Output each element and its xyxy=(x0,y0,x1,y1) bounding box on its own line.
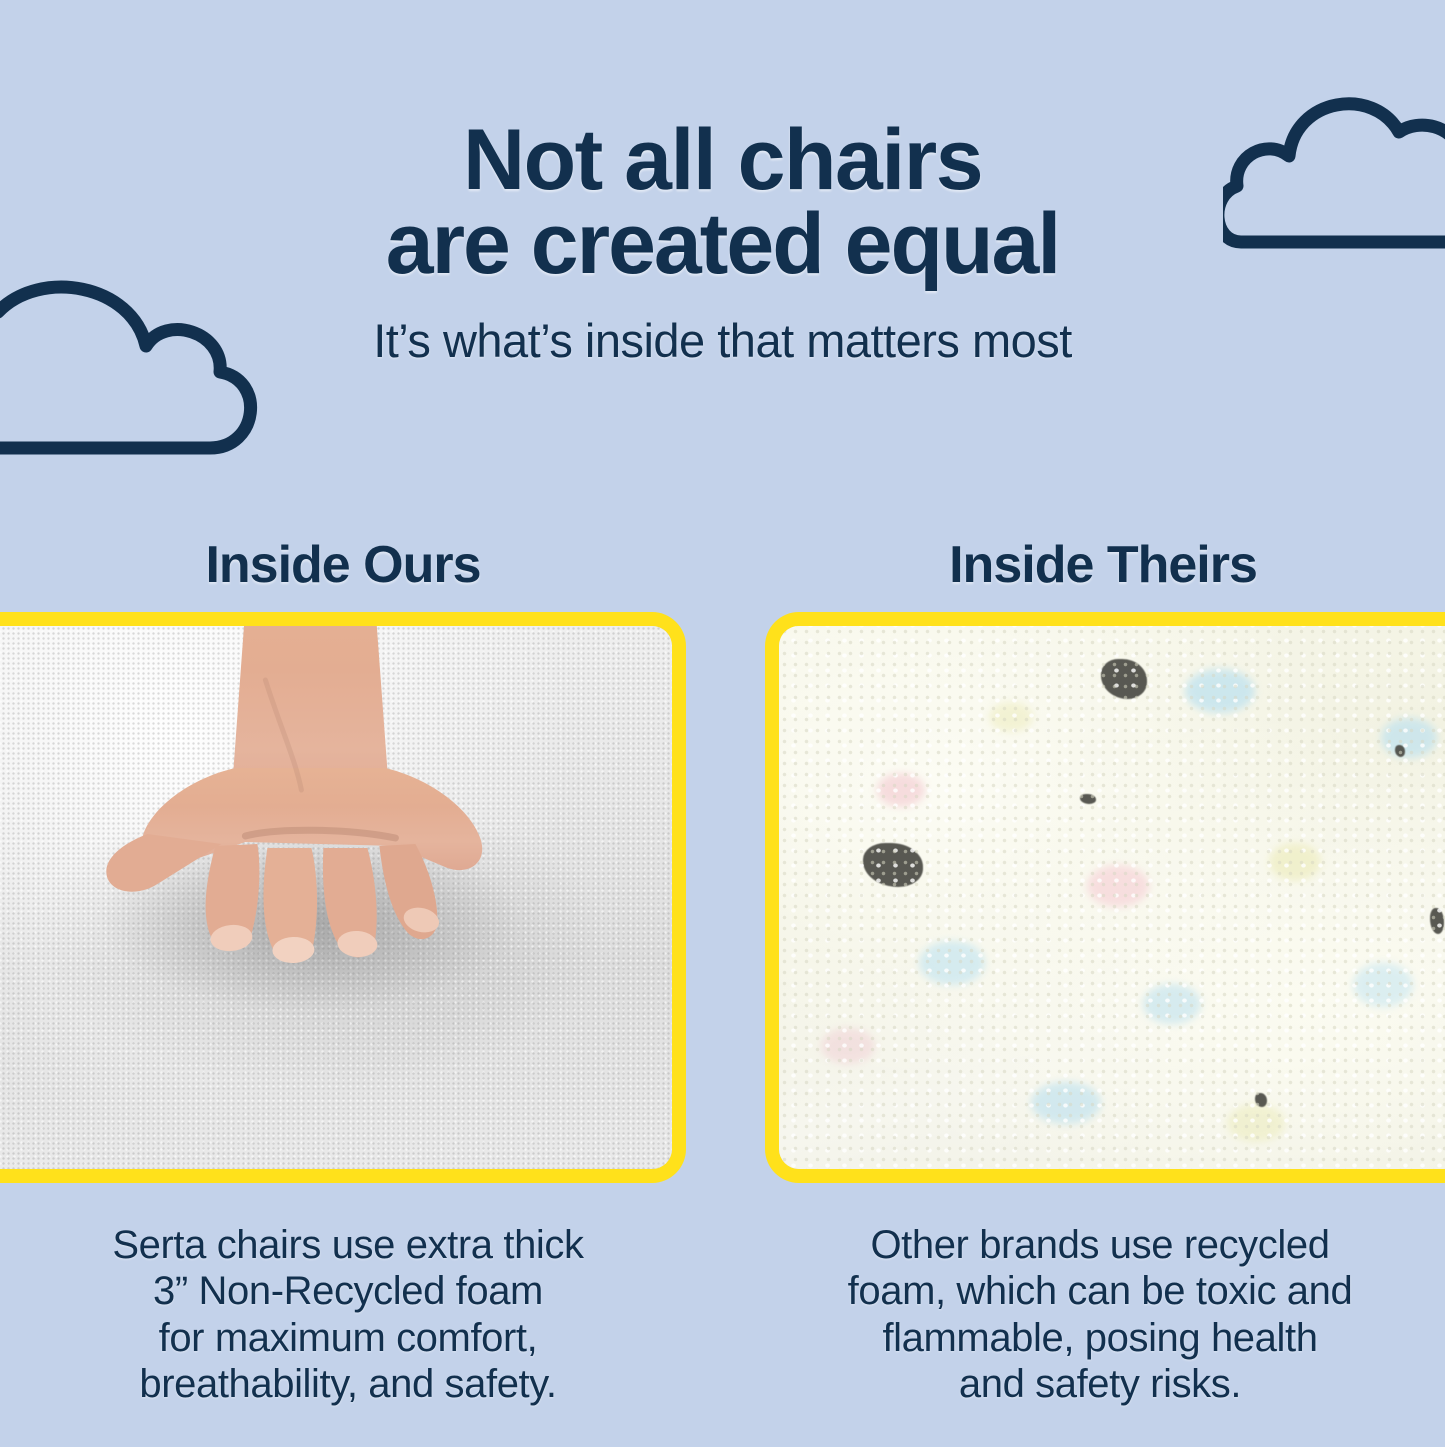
caption-line: and safety risks. xyxy=(762,1361,1438,1407)
headline-line-1: Not all chairs xyxy=(463,112,982,208)
foam-photo-ours xyxy=(0,626,672,1169)
caption-theirs: Other brands use recycled foam, which ca… xyxy=(762,1222,1438,1408)
page-subtitle: It’s what’s inside that matters most xyxy=(0,313,1445,368)
infographic-canvas: Not all chairs are created equal It’s wh… xyxy=(0,0,1445,1447)
column-heading-theirs: Inside Theirs xyxy=(760,535,1445,595)
caption-line: flammable, posing health xyxy=(762,1315,1438,1361)
caption-line: foam, which can be toxic and xyxy=(762,1268,1438,1314)
caption-line: 3” Non-Recycled foam xyxy=(10,1268,686,1314)
hand-illustration xyxy=(95,626,525,1040)
comparison-card-ours: Non-Toxic Foam xyxy=(0,612,686,1183)
caption-line: Serta chairs use extra thick xyxy=(10,1222,686,1268)
caption-ours: Serta chairs use extra thick 3” Non-Recy… xyxy=(10,1222,686,1408)
column-heading-ours: Inside Ours xyxy=(0,535,686,595)
caption-line: breathability, and safety. xyxy=(10,1361,686,1407)
caption-line: Other brands use recycled xyxy=(762,1222,1438,1268)
header-block: Not all chairs are created equal It’s wh… xyxy=(0,118,1445,368)
foam-photo-theirs xyxy=(779,626,1445,1169)
headline-line-2: are created equal xyxy=(0,202,1445,286)
caption-line: for maximum comfort, xyxy=(10,1315,686,1361)
page-title: Not all chairs are created equal xyxy=(0,118,1445,287)
comparison-card-theirs: Potentially Toxic Foam xyxy=(765,612,1445,1183)
